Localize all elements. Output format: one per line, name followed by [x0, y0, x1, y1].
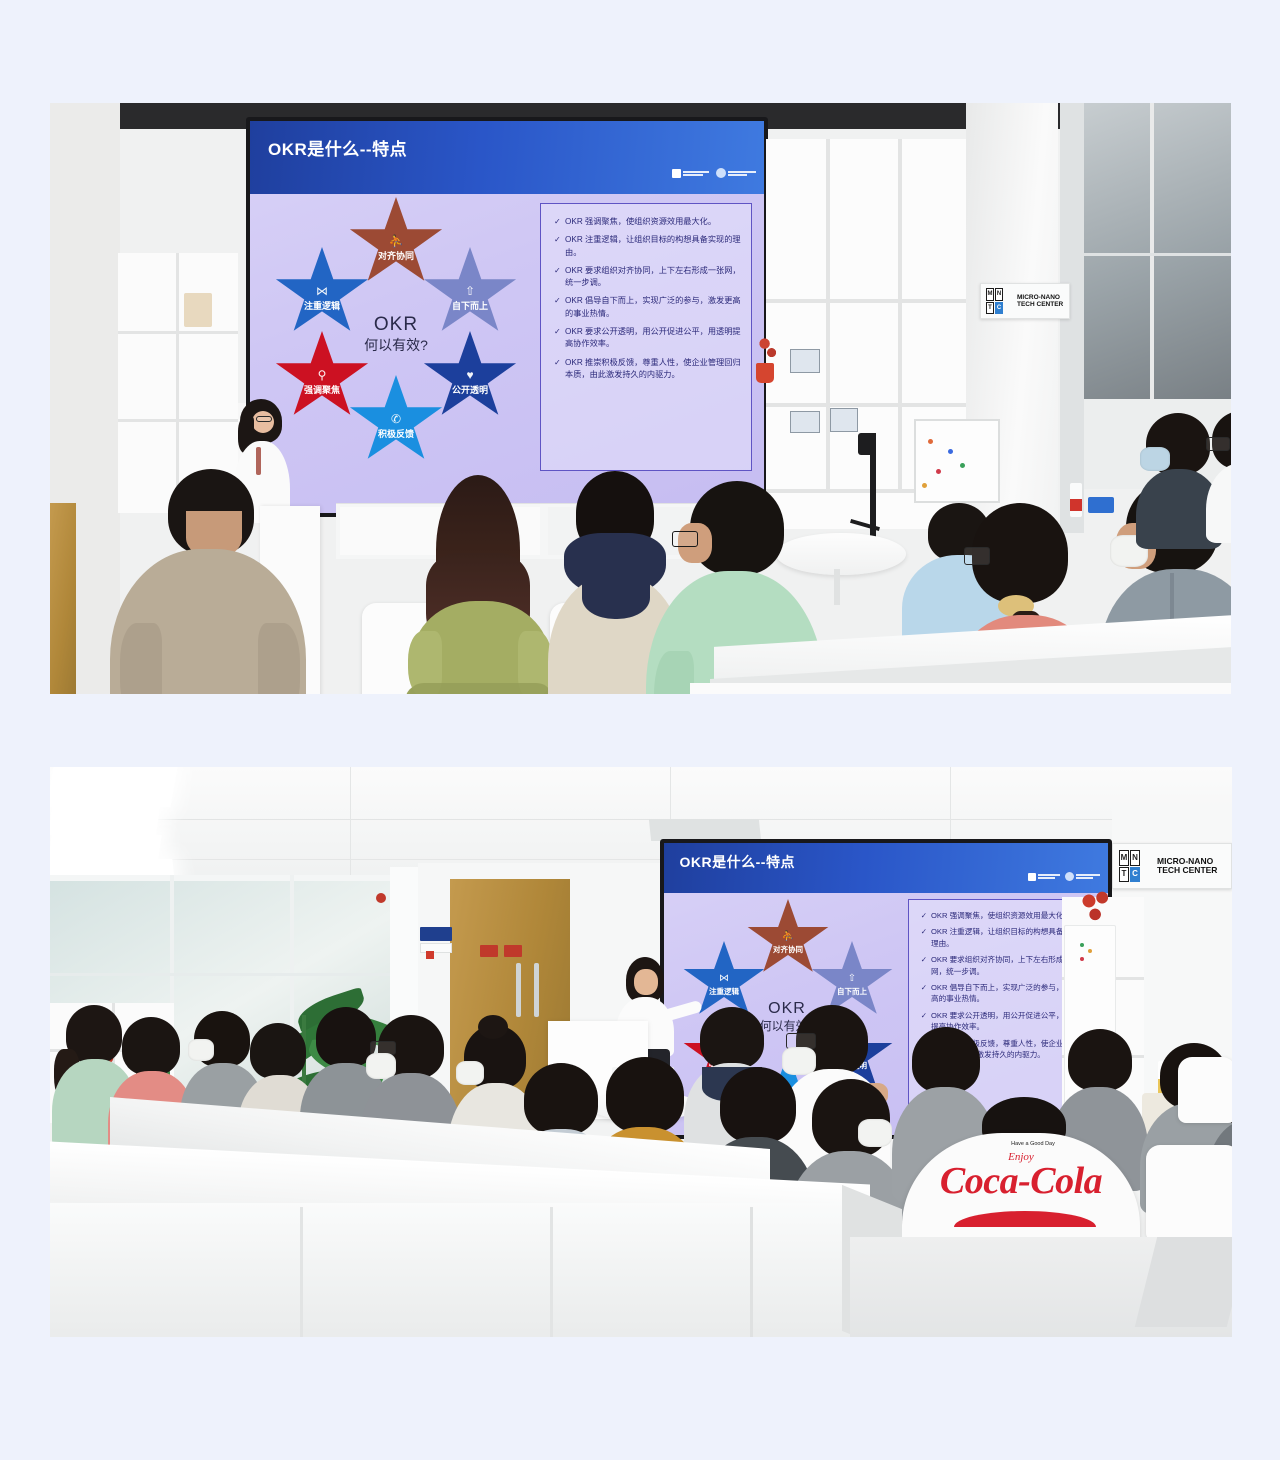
okr-star-diagram: ⛹ 对齐协同 ⋈ 注重逻辑 ⇧ 自下而上 ⚲ 强调聚焦	[274, 203, 514, 463]
mntc-blank	[1141, 850, 1151, 866]
glasses	[964, 547, 990, 565]
picture-frame	[790, 411, 820, 433]
star-label: 强调聚焦	[304, 383, 340, 396]
star-label: 对齐协同	[378, 249, 414, 262]
cola-wordmark: Coca-Cola	[902, 1159, 1140, 1203]
link-icon: ⋈	[719, 974, 729, 984]
slide-title: OKR是什么--特点	[268, 135, 407, 160]
star-label: 积极反馈	[378, 427, 414, 440]
slide-logo-group	[672, 168, 749, 178]
chair	[1178, 1057, 1232, 1123]
star-label: 自下而上	[452, 299, 488, 312]
phone-icon: ✆	[391, 413, 401, 425]
mntc-letter-t: T	[1119, 867, 1129, 883]
mntc-letter-c: C	[1130, 867, 1140, 883]
star-label: 对齐协同	[773, 944, 803, 955]
long-desk	[690, 683, 1231, 694]
picture-frame	[790, 349, 820, 373]
okr-center-line2: 何以有效?	[364, 337, 428, 355]
star-label: 公开透明	[452, 383, 488, 396]
mntc-blank	[1004, 302, 1012, 315]
heart-icon: ♥	[466, 369, 473, 381]
face-mask	[456, 1061, 484, 1085]
decor-box	[184, 293, 212, 327]
people-icon: ⛹	[782, 932, 794, 942]
audience-member	[406, 475, 556, 694]
mntc-blank	[1004, 288, 1012, 301]
mntc-wall-sign: M N T C MICRO-NANO TECH CENTER	[1112, 843, 1232, 889]
face-mask	[188, 1039, 214, 1061]
star-align: ⛹ 对齐协同	[746, 899, 830, 979]
slide-bullet-panel: OKR 强调聚焦，使组织资源效用最大化。 OKR 注重逻辑，让组织目标的构想具备…	[540, 203, 752, 471]
long-desk	[50, 1203, 850, 1337]
mntc-wall-sign: M N T C MICRO-NANO TECH CENTER	[980, 283, 1070, 319]
ceiling-light	[50, 807, 160, 835]
page-root: OKR是什么--特点 ⛹ 对齐协同	[0, 0, 1280, 1460]
mntc-letter-n: N	[1130, 850, 1140, 866]
photo-bottom: OKR是什么--特点 ⛹ 对齐协同	[50, 767, 1232, 1337]
star-label: 自下而上	[837, 986, 867, 997]
bullet-item: OKR 注重逻辑，让组织目标的构想具备实现的理由。	[565, 234, 741, 259]
red-flower-arrangement	[1074, 885, 1118, 927]
wall-display: OKR是什么--特点 ⛹ 对齐协同	[246, 117, 768, 517]
people-icon: ⛹	[389, 235, 404, 247]
face-mask	[858, 1119, 892, 1147]
picture-frame	[830, 408, 858, 432]
okr-center-line1: OKR	[374, 313, 418, 337]
mntc-letter-m: M	[986, 288, 994, 301]
presentation-slide: OKR是什么--特点 ⛹ 对齐协同	[250, 121, 764, 513]
bullet-item: OKR 强调聚焦，使组织资源效用最大化。	[565, 216, 741, 228]
slide-logo-group	[1028, 872, 1095, 881]
whiteboard	[914, 419, 1000, 503]
micro-nano-tech-center-logo	[1028, 873, 1060, 881]
star-feedback: ✆ 积极反馈	[348, 375, 444, 467]
mntc-letter-n: N	[995, 288, 1003, 301]
bullet-item: OKR 倡导自下而上，实现广泛的参与，激发更高的事业热情。	[565, 295, 741, 320]
chair	[1146, 1145, 1232, 1241]
photo-top: OKR是什么--特点 ⛹ 对齐协同	[50, 103, 1231, 694]
diamond-lab-logo	[716, 168, 756, 178]
ceiling-light	[50, 835, 162, 859]
up-arrow-icon: ⇧	[465, 285, 475, 297]
slide-title: OKR是什么--特点	[680, 852, 795, 872]
star-align: ⛹ 对齐协同	[348, 197, 444, 289]
mntc-line2: TECH CENTER	[1017, 301, 1063, 308]
star-label: 注重逻辑	[709, 986, 739, 997]
audience-member	[1206, 411, 1231, 527]
mntc-line2: TECH CENTER	[1157, 866, 1217, 875]
mntc-line1: MICRO-NANO	[1017, 294, 1063, 301]
ceiling-light	[50, 767, 178, 807]
up-arrow-icon: ⇧	[848, 974, 856, 984]
diamond-lab-logo	[1065, 872, 1100, 881]
mntc-letter-m: M	[1119, 850, 1129, 866]
link-icon: ⋈	[316, 285, 328, 297]
glasses	[672, 531, 698, 547]
search-icon: ⚲	[318, 369, 327, 381]
micro-nano-tech-center-logo	[672, 169, 709, 178]
okr-center-label: OKR 何以有效?	[346, 299, 446, 369]
mntc-letter-c: C	[995, 302, 1003, 315]
bullet-item: OKR 要求组织对齐协同，上下左右形成一张网，统一步调。	[565, 265, 741, 290]
bullet-item: OKR 推崇积极反馈，尊重人性，使企业管理回归本质，由此激发持久的内驱力。	[565, 357, 741, 382]
audience-member	[108, 463, 308, 694]
bullet-item: OKR 要求公开透明，用公开促进公平，用透明提高协作效率。	[565, 326, 741, 351]
cola-slogan-good-day: Have a Good Day	[1006, 1141, 1060, 1147]
star-label: 注重逻辑	[304, 299, 340, 312]
mntc-blank	[1141, 867, 1151, 883]
mntc-letter-t: T	[986, 302, 994, 315]
hair-bun	[478, 1015, 508, 1039]
